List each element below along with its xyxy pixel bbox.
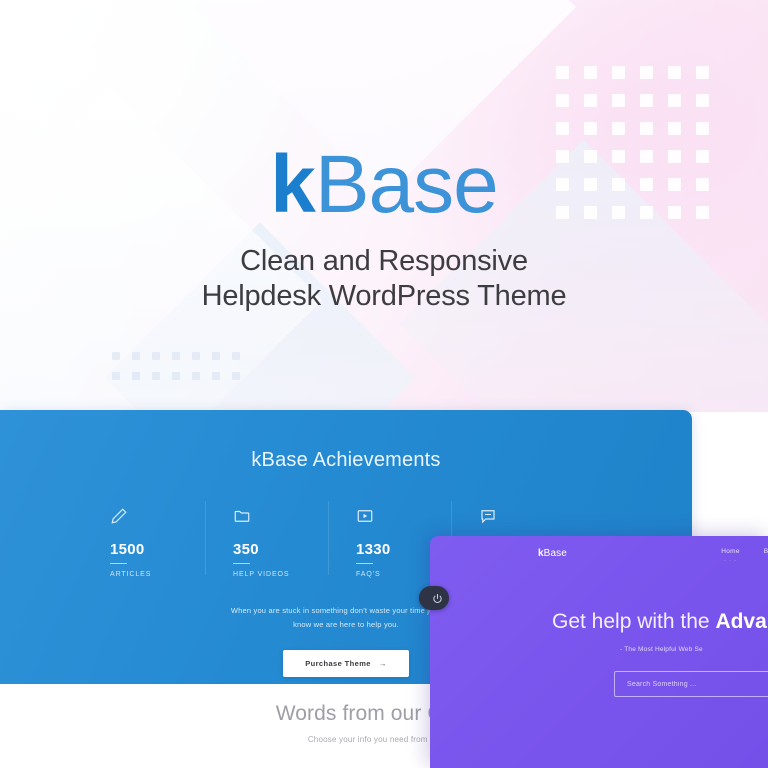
folder-icon [233, 507, 346, 527]
arrow-right-icon: → [379, 659, 387, 668]
preview-nav-item-blog[interactable]: Blog [764, 548, 768, 564]
preview-logo[interactable]: kBase [538, 548, 567, 559]
preview-logo-base: Base [544, 548, 567, 559]
stat-rule [233, 563, 250, 564]
tagline-line-1: Clean and Responsive [0, 244, 768, 279]
theme-settings-toggle[interactable] [419, 586, 449, 610]
preview-subtitle: - The Most Helpful Web Se [430, 646, 768, 653]
pencil-icon [110, 507, 223, 527]
stat-label: ARTICLES [110, 571, 223, 578]
dot-grid-decoration-faint [112, 352, 252, 392]
brand-block: kBase Clean and Responsive Helpdesk Word… [0, 142, 768, 314]
video-icon [356, 507, 469, 527]
brand-logo: kBase [0, 142, 768, 228]
stat-value: 1500 [110, 541, 223, 563]
purchase-theme-button[interactable]: Purchase Theme→ [283, 650, 409, 677]
preview-heading-bold: Adva [715, 610, 766, 633]
purchase-theme-label: Purchase Theme [305, 659, 371, 668]
preview-nav-label: Blog [764, 548, 768, 555]
stat-label: HELP VIDEOS [233, 571, 346, 578]
brand-logo-base: Base [315, 139, 498, 230]
preview-nav: Home · · · Blog [721, 548, 768, 564]
preview-topbar: kBase Home · · · Blog [430, 536, 768, 574]
preview-nav-item-home[interactable]: Home · · · [721, 548, 740, 564]
stat-rule [356, 563, 373, 564]
tagline: Clean and Responsive Helpdesk WordPress … [0, 244, 768, 314]
achievements-title: kBase Achievements [0, 449, 692, 472]
power-icon [432, 593, 443, 604]
search-input[interactable] [614, 671, 768, 697]
preview-panel: kBase Home · · · Blog Get help with the … [430, 536, 768, 768]
preview-heading-normal: Get help with the [552, 610, 715, 633]
preview-heading: Get help with the Adva [430, 610, 768, 634]
preview-nav-label: Home [721, 548, 740, 555]
hero-section: kBase Clean and Responsive Helpdesk Word… [0, 0, 768, 412]
stat-rule [110, 563, 127, 564]
comment-icon [479, 507, 592, 527]
brand-logo-k: k [270, 139, 315, 230]
stat-value: 350 [233, 541, 346, 563]
active-dots-indicator: · · · [721, 558, 740, 564]
tagline-line-2: Helpdesk WordPress Theme [0, 279, 768, 314]
